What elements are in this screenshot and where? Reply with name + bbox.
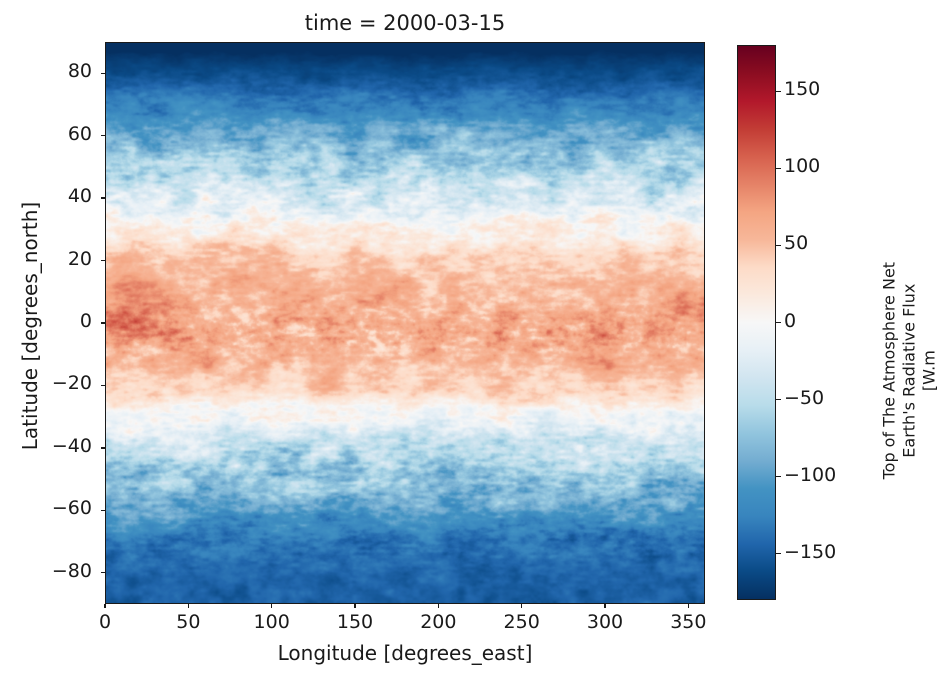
x-tick-350 [688, 604, 689, 608]
y-tick--20 [101, 385, 105, 386]
colorbar-tick-150 [776, 91, 781, 92]
y-tick-label-20: 20 [0, 248, 92, 270]
y-axis-label: Latitude [degrees_north] [18, 161, 42, 491]
colorbar-label: Top of The Atmosphere Net Earth's Radiat… [879, 161, 938, 581]
colorbar-tick--50 [776, 399, 781, 400]
y-tick-20 [101, 260, 105, 261]
y-tick-80 [101, 73, 105, 74]
x-axis-label: Longitude [degrees_east] [105, 641, 705, 665]
colorbar-tick-label-150: 150 [784, 78, 820, 100]
y-tick-label--40: −40 [0, 435, 92, 457]
x-tick-label-350: 350 [653, 611, 723, 633]
y-tick-label-80: 80 [0, 60, 92, 82]
colorbar-label-line-1: Top of The Atmosphere Net [879, 161, 899, 581]
colorbar-tick-label-0: 0 [784, 310, 796, 332]
y-tick-0 [101, 322, 105, 323]
colorbar-gradient [738, 46, 775, 599]
y-tick-label--60: −60 [0, 497, 92, 519]
y-tick-label--20: −20 [0, 372, 92, 394]
flux-heatmap-image [106, 43, 705, 604]
y-tick--40 [101, 447, 105, 448]
x-tick-50 [188, 604, 189, 608]
colorbar-tick-50 [776, 245, 781, 246]
y-tick-label--80: −80 [0, 560, 92, 582]
figure-canvas: time = 2000-03-15 050100150200250300350 … [0, 0, 938, 683]
colorbar-tick-label-50: 50 [784, 232, 808, 254]
x-tick-100 [271, 604, 272, 608]
plot-title: time = 2000-03-15 [105, 8, 705, 38]
y-tick-40 [101, 197, 105, 198]
map-plot-area[interactable] [105, 42, 705, 604]
y-tick--60 [101, 510, 105, 511]
x-tick-label-300: 300 [570, 611, 640, 633]
colorbar-tick--150 [776, 553, 781, 554]
colorbar-tick-label-100: 100 [784, 155, 820, 177]
y-tick-label-60: 60 [0, 123, 92, 145]
colorbar-label-line-3: [W.m−2] [919, 161, 938, 581]
x-tick-300 [604, 604, 605, 608]
y-tick--80 [101, 572, 105, 573]
x-tick-label-250: 250 [487, 611, 557, 633]
colorbar-tick-label--150: −150 [784, 541, 836, 563]
x-tick-200 [438, 604, 439, 608]
x-tick-label-0: 0 [70, 611, 140, 633]
y-tick-label-0: 0 [0, 310, 92, 332]
x-tick-250 [521, 604, 522, 608]
x-tick-label-200: 200 [403, 611, 473, 633]
colorbar-tick-label--50: −50 [784, 387, 824, 409]
colorbar[interactable] [737, 45, 776, 600]
colorbar-label-line-2: Earth's Radiative Flux [899, 161, 919, 581]
colorbar-tick-0 [776, 322, 781, 323]
x-tick-label-150: 150 [320, 611, 390, 633]
x-tick-0 [104, 604, 105, 608]
x-tick-150 [354, 604, 355, 608]
colorbar-tick--100 [776, 476, 781, 477]
colorbar-units-prefix: [W.m [919, 161, 938, 581]
colorbar-tick-100 [776, 168, 781, 169]
y-tick-label-40: 40 [0, 185, 92, 207]
y-tick-60 [101, 135, 105, 136]
colorbar-tick-label--100: −100 [784, 464, 836, 486]
x-tick-label-50: 50 [153, 611, 223, 633]
x-tick-label-100: 100 [237, 611, 307, 633]
